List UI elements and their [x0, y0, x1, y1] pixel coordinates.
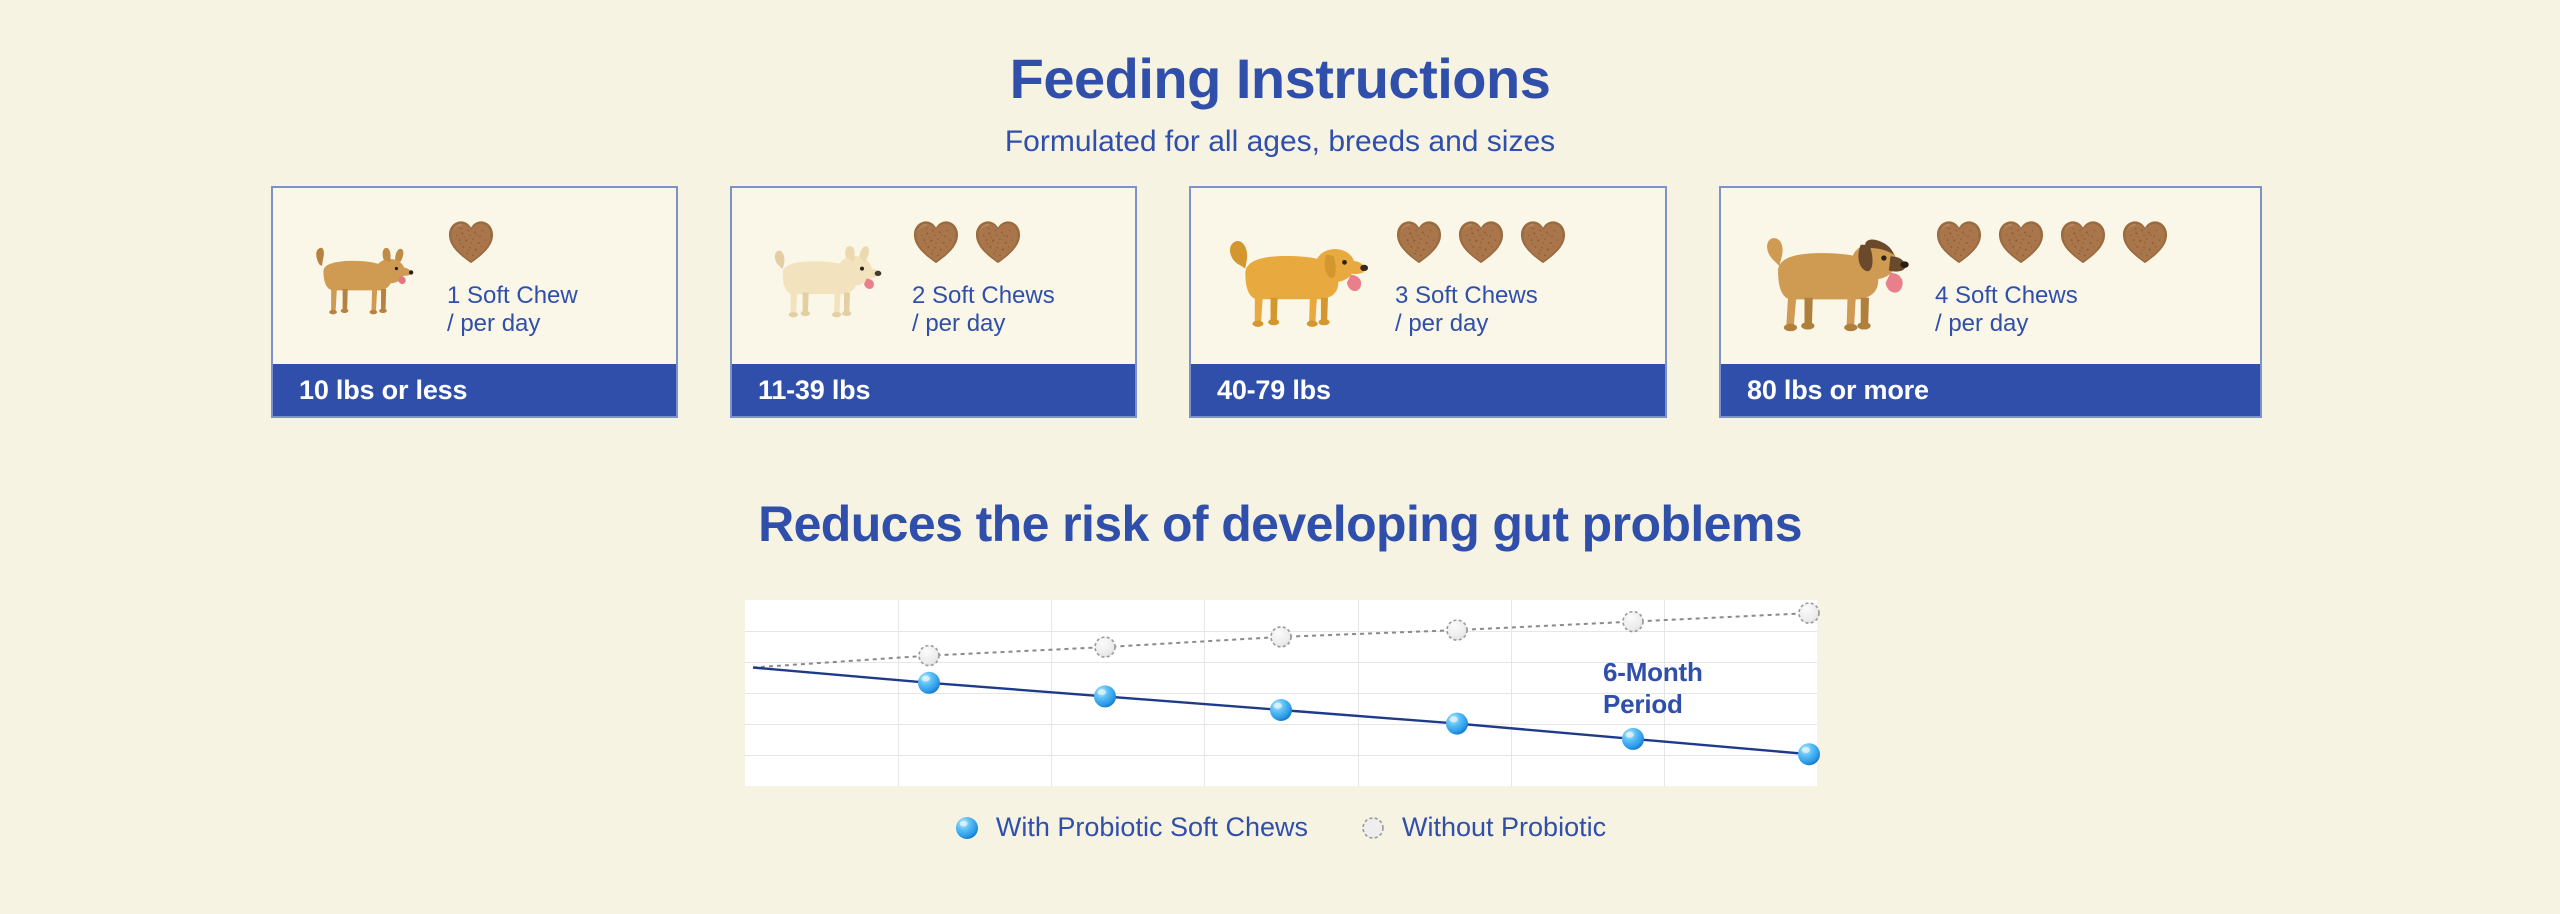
- soft-chew-heart-icon: [447, 219, 495, 265]
- soft-chew-heart-icon: [974, 219, 1022, 265]
- with-probiotic-data-point: [1446, 713, 1468, 735]
- weight-range-label: 40-79 lbs: [1217, 375, 1331, 406]
- gut-problems-line-chart: 6-Month Period: [745, 600, 1817, 786]
- weight-range-footer: 40-79 lbs: [1191, 364, 1665, 416]
- dosage-line-2: / per day: [447, 310, 676, 338]
- feeding-card-body: 2 Soft Chews/ per day: [732, 188, 1135, 364]
- without-probiotic-data-point: [919, 646, 939, 666]
- dog-image: [1721, 208, 1931, 344]
- dosage-block: 3 Soft Chews/ per day: [1391, 214, 1665, 338]
- weight-range-label: 11-39 lbs: [758, 375, 870, 406]
- french-bulldog-photo: [751, 232, 889, 332]
- dosage-block: 2 Soft Chews/ per day: [908, 214, 1135, 338]
- feeding-card: 1 Soft Chew/ per day10 lbs or less: [271, 186, 678, 418]
- soft-chew-heart-icon: [1519, 219, 1567, 265]
- with-probiotic-data-point: [1622, 728, 1644, 750]
- period-label-line1: 6-Month: [1603, 657, 1703, 689]
- gray-dashed-circle-marker: [1360, 815, 1386, 841]
- soft-chew-group: [1395, 214, 1665, 270]
- chart-section-heading: Reduces the risk of developing gut probl…: [0, 495, 2560, 553]
- feeding-card: 4 Soft Chews/ per day80 lbs or more: [1719, 186, 2262, 418]
- period-label-line2: Period: [1603, 689, 1703, 721]
- without-probiotic-data-point: [1095, 637, 1115, 657]
- blue-sphere-marker: [954, 815, 980, 841]
- dosage-line-2: / per day: [1395, 310, 1665, 338]
- dosage-line-2: / per day: [1935, 310, 2260, 338]
- soft-chew-group: [1935, 214, 2260, 270]
- with-probiotic-data-point: [1798, 743, 1820, 765]
- golden-retriever-photo: [1207, 223, 1375, 341]
- soft-chew-heart-icon: [1457, 219, 1505, 265]
- feeding-card: 3 Soft Chews/ per day40-79 lbs: [1189, 186, 1667, 418]
- weight-range-footer: 10 lbs or less: [273, 364, 676, 416]
- legend-item: With Probiotic Soft Chews: [954, 812, 1308, 843]
- without-probiotic-data-point: [1799, 603, 1819, 623]
- infographic-root: Feeding Instructions Formulated for all …: [0, 0, 2560, 914]
- feeding-card-body: 3 Soft Chews/ per day: [1191, 188, 1665, 364]
- weight-range-footer: 11-39 lbs: [732, 364, 1135, 416]
- soft-chew-heart-icon: [1395, 219, 1443, 265]
- with-probiotic-data-point: [1270, 699, 1292, 721]
- feeding-card-body: 4 Soft Chews/ per day: [1721, 188, 2260, 364]
- feeding-card: 2 Soft Chews/ per day11-39 lbs: [730, 186, 1137, 418]
- page-title: Feeding Instructions: [0, 46, 2560, 111]
- feeding-cards-row: 1 Soft Chew/ per day10 lbs or less2 Soft…: [271, 186, 2281, 418]
- without-probiotic-data-point: [1447, 620, 1467, 640]
- legend-label: Without Probiotic: [1402, 812, 1606, 843]
- without-probiotic-data-point: [1623, 612, 1643, 632]
- with-probiotic-data-point: [1094, 685, 1116, 707]
- soft-chew-heart-icon: [912, 219, 960, 265]
- soft-chew-heart-icon: [1935, 219, 1983, 265]
- dosage-block: 1 Soft Chew/ per day: [443, 214, 676, 338]
- mastiff-photo: [1738, 220, 1914, 344]
- soft-chew-heart-icon: [1997, 219, 2045, 265]
- dog-image: [732, 220, 908, 332]
- dosage-line-1: 4 Soft Chews: [1935, 282, 2260, 310]
- chihuahua-photo: [294, 234, 422, 330]
- dog-image: [273, 222, 443, 330]
- dosage-block: 4 Soft Chews/ per day: [1931, 214, 2260, 338]
- soft-chew-group: [912, 214, 1135, 270]
- legend-label: With Probiotic Soft Chews: [996, 812, 1308, 843]
- legend-item: Without Probiotic: [1360, 812, 1606, 843]
- soft-chew-heart-icon: [2121, 219, 2169, 265]
- weight-range-footer: 80 lbs or more: [1721, 364, 2260, 416]
- dosage-line-1: 3 Soft Chews: [1395, 282, 1665, 310]
- soft-chew-heart-icon: [2059, 219, 2107, 265]
- chart-legend: With Probiotic Soft ChewsWithout Probiot…: [0, 812, 2560, 843]
- page-subtitle: Formulated for all ages, breeds and size…: [0, 125, 2560, 159]
- dosage-line-2: / per day: [912, 310, 1135, 338]
- with-probiotic-data-point: [918, 672, 940, 694]
- dog-image: [1191, 211, 1391, 341]
- six-month-period-annotation: 6-Month Period: [1603, 657, 1703, 720]
- weight-range-label: 10 lbs or less: [299, 375, 467, 406]
- dosage-line-1: 2 Soft Chews: [912, 282, 1135, 310]
- soft-chew-group: [447, 214, 676, 270]
- dosage-line-1: 1 Soft Chew: [447, 282, 676, 310]
- feeding-card-body: 1 Soft Chew/ per day: [273, 188, 676, 364]
- weight-range-label: 80 lbs or more: [1747, 375, 1929, 406]
- without-probiotic-data-point: [1271, 627, 1291, 647]
